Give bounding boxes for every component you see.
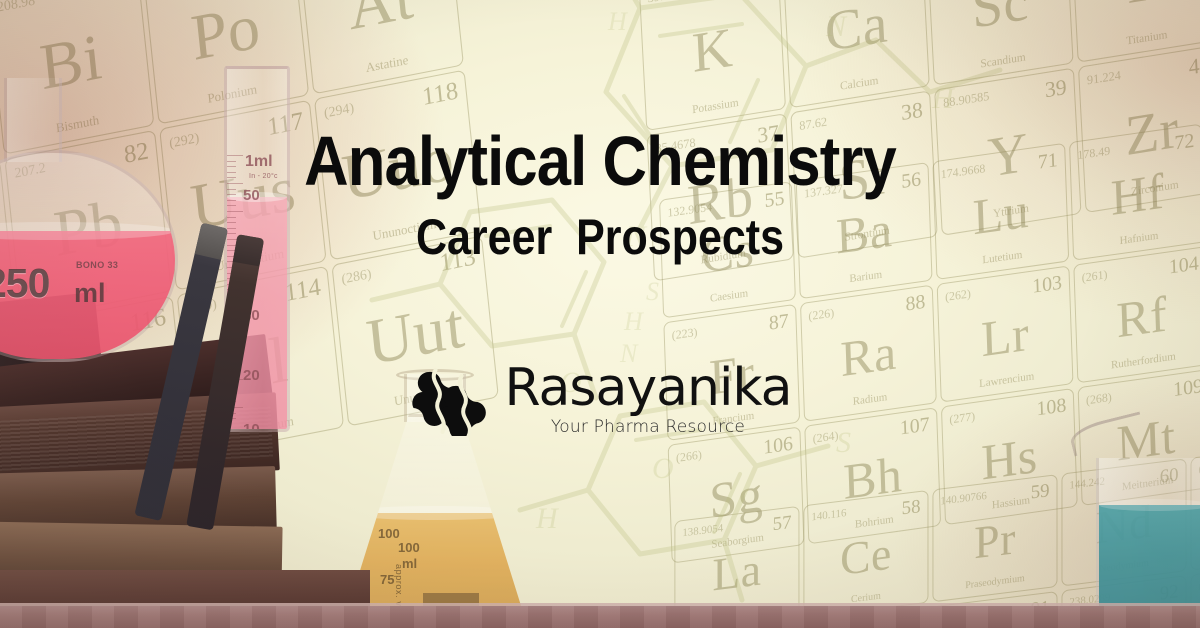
cylinder-tick-20: 20: [243, 367, 260, 384]
erlenmeyer-unit-label: ml: [402, 556, 417, 571]
logo-text-block: Rasayanika Your Pharma Resource: [505, 362, 792, 436]
page-title: Analytical Chemistry: [72, 126, 1128, 196]
logo-tagline: Your Pharma Resource: [551, 419, 745, 436]
headline: Analytical Chemistry Career Prospects: [0, 126, 1200, 262]
page-subtitle: Career Prospects: [84, 212, 1116, 262]
table-surface: [0, 606, 1200, 628]
flask-volume-label: 250: [0, 260, 49, 307]
banner: 127.6052TeTellurium126.953IIodine131.295…: [0, 0, 1200, 628]
logo-brand-name: Rasayanika: [505, 362, 792, 414]
flask-unit-label: ml: [74, 278, 106, 309]
erlenmeyer-volume-dup: 100: [398, 540, 420, 555]
beaker: [1096, 438, 1200, 628]
rasayanika-logo[interactable]: Rasayanika Your Pharma Resource: [409, 362, 792, 436]
molecule-chain-icon: [409, 362, 491, 436]
erlenmeyer-tick-75: 75: [380, 572, 394, 587]
cylinder-tick-10: 10: [243, 421, 260, 432]
erlenmeyer-volume-top: 100: [378, 526, 400, 541]
